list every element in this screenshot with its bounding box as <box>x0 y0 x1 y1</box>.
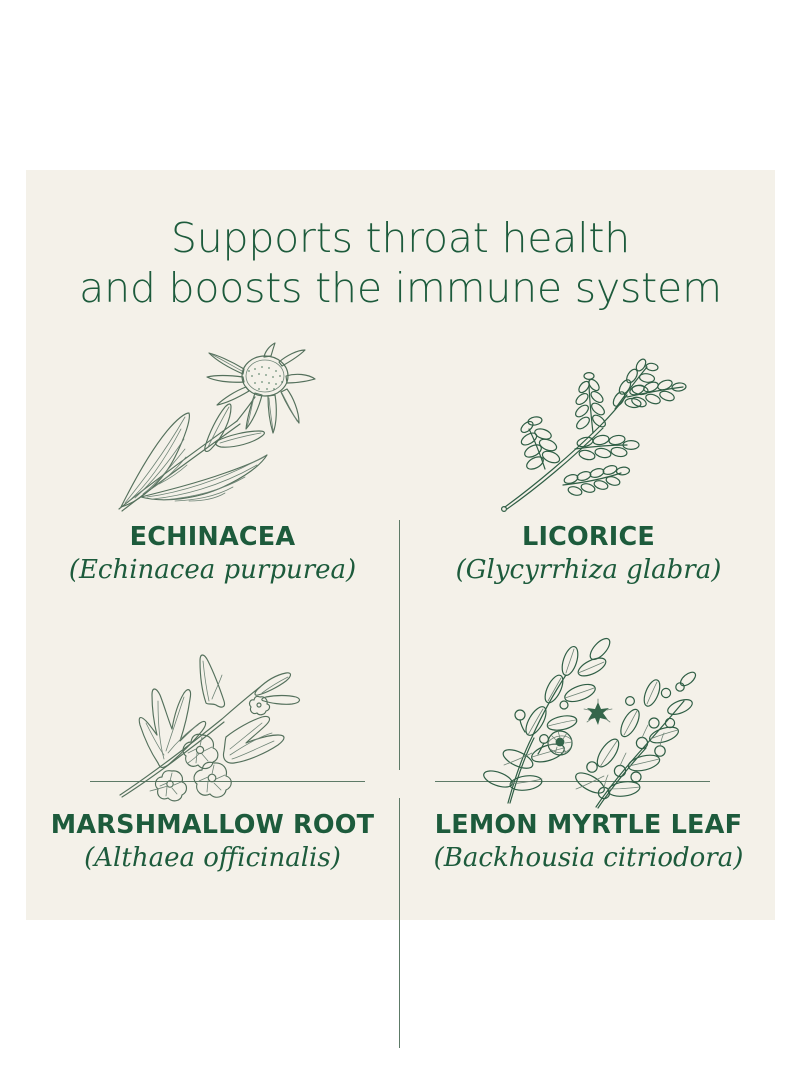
ingredient-latin-name: (Althaea officinalis) <box>26 843 399 874</box>
page-title: Supports throat health and boosts the im… <box>26 214 775 313</box>
marshmallow-root-illustration <box>26 628 399 813</box>
lemon-myrtle-illustration <box>402 628 775 813</box>
ingredient-names-licorice: LICORICE (Glycyrrhiza glabra) <box>402 523 775 585</box>
vertical-divider-top <box>399 520 400 770</box>
cream-panel: Supports throat health and boosts the im… <box>26 170 775 920</box>
vertical-divider-bottom <box>399 798 400 1048</box>
ingredient-common-name: LICORICE <box>402 523 775 552</box>
ingredient-latin-name: (Glycyrrhiza glabra) <box>402 555 775 586</box>
headline-line-1: Supports throat health <box>171 214 630 262</box>
ingredient-names-lemon-myrtle-leaf: LEMON MYRTLE LEAF (Backhousia citriodora… <box>402 811 775 873</box>
ingredient-common-name: LEMON MYRTLE LEAF <box>402 811 775 840</box>
ingredient-infographic-page: Supports throat health and boosts the im… <box>0 0 800 1091</box>
headline-line-2: and boosts the immune system <box>26 264 775 314</box>
ingredient-names-marshmallow-root: MARSHMALLOW ROOT (Althaea officinalis) <box>26 811 399 873</box>
ingredient-cell-echinacea: ECHINACEA (Echinacea purpurea) <box>26 340 399 630</box>
ingredient-cell-lemon-myrtle-leaf: LEMON MYRTLE LEAF (Backhousia citriodora… <box>402 628 775 918</box>
ingredient-latin-name: (Backhousia citriodora) <box>402 843 775 874</box>
ingredient-cell-licorice: LICORICE (Glycyrrhiza glabra) <box>402 340 775 630</box>
echinacea-illustration <box>26 340 399 525</box>
ingredient-grid: ECHINACEA (Echinacea purpurea) <box>26 340 775 920</box>
ingredient-cell-marshmallow-root: MARSHMALLOW ROOT (Althaea officinalis) <box>26 628 399 918</box>
ingredient-common-name: MARSHMALLOW ROOT <box>26 811 399 840</box>
ingredient-latin-name: (Echinacea purpurea) <box>26 555 399 586</box>
ingredient-common-name: ECHINACEA <box>26 523 399 552</box>
licorice-illustration <box>402 340 775 525</box>
ingredient-names-echinacea: ECHINACEA (Echinacea purpurea) <box>26 523 399 585</box>
